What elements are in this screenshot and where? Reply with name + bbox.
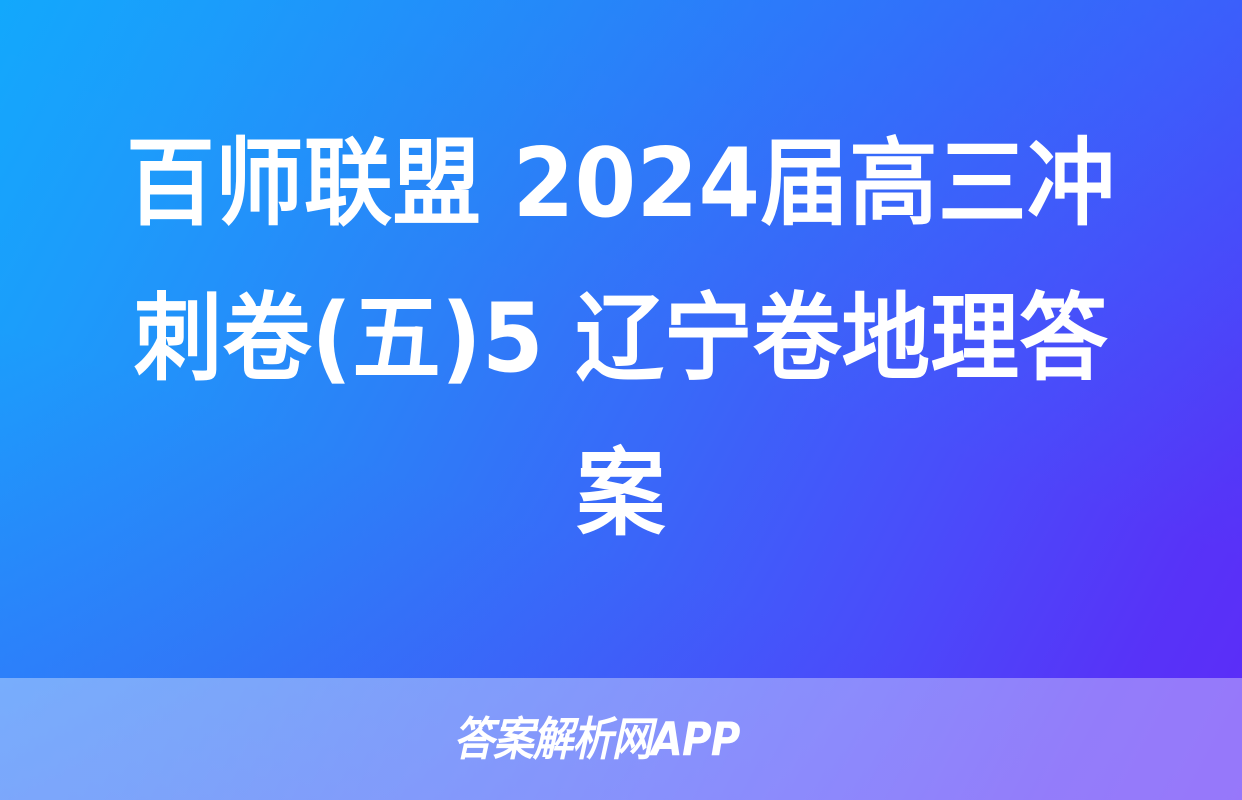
poster-canvas: 百师联盟 2024届高三冲刺卷(五)5 辽宁卷地理答案 答案解析网APP bbox=[0, 0, 1242, 800]
brand-watermark-label: 答案解析网APP bbox=[454, 716, 740, 762]
watermark-band: 答案解析网APP bbox=[0, 678, 1242, 800]
page-title: 百师联盟 2024届高三冲刺卷(五)5 辽宁卷地理答案 bbox=[112, 107, 1129, 572]
headline-region: 百师联盟 2024届高三冲刺卷(五)5 辽宁卷地理答案 bbox=[0, 0, 1242, 678]
